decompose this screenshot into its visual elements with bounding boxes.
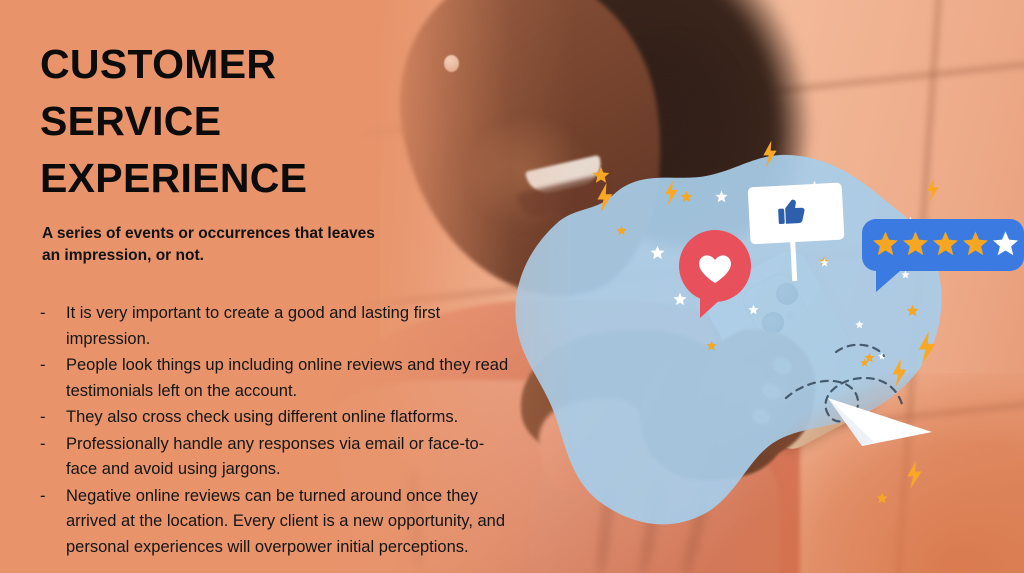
bullet-marker: - bbox=[40, 432, 46, 458]
list-item: - People look things up including online… bbox=[40, 353, 510, 404]
subtitle-line-2: an impression, or not. bbox=[42, 245, 422, 267]
title-line-3: EXPERIENCE bbox=[40, 150, 560, 207]
list-item: - Negative online reviews can be turned … bbox=[40, 484, 510, 561]
list-item: - They also cross check using different … bbox=[40, 405, 510, 431]
list-item: - It is very important to create a good … bbox=[40, 301, 510, 352]
slide-text-block: CUSTOMER SERVICE EXPERIENCE A series of … bbox=[40, 36, 560, 561]
list-item-text: They also cross check using different on… bbox=[66, 408, 458, 426]
list-item-text: Professionally handle any responses via … bbox=[66, 435, 484, 479]
list-item-text: It is very important to create a good an… bbox=[66, 304, 440, 348]
slide-canvas: CUSTOMER SERVICE EXPERIENCE A series of … bbox=[0, 0, 1024, 573]
subtitle-line-1: A series of events or occurrences that l… bbox=[42, 223, 422, 245]
subtitle: A series of events or occurrences that l… bbox=[42, 223, 422, 267]
bullet-list: - It is very important to create a good … bbox=[40, 301, 510, 560]
list-item: - Professionally handle any responses vi… bbox=[40, 432, 510, 483]
bullet-marker: - bbox=[40, 405, 46, 431]
corner-shadow-wash bbox=[734, 373, 1024, 573]
page-title: CUSTOMER SERVICE EXPERIENCE bbox=[40, 36, 560, 207]
list-item-text: Negative online reviews can be turned ar… bbox=[66, 487, 505, 556]
title-line-1: CUSTOMER bbox=[40, 36, 560, 93]
list-item-text: People look things up including online r… bbox=[66, 356, 508, 400]
bullet-marker: - bbox=[40, 484, 46, 510]
bullet-marker: - bbox=[40, 301, 46, 327]
title-line-2: SERVICE bbox=[40, 93, 560, 150]
bullet-marker: - bbox=[40, 353, 46, 379]
